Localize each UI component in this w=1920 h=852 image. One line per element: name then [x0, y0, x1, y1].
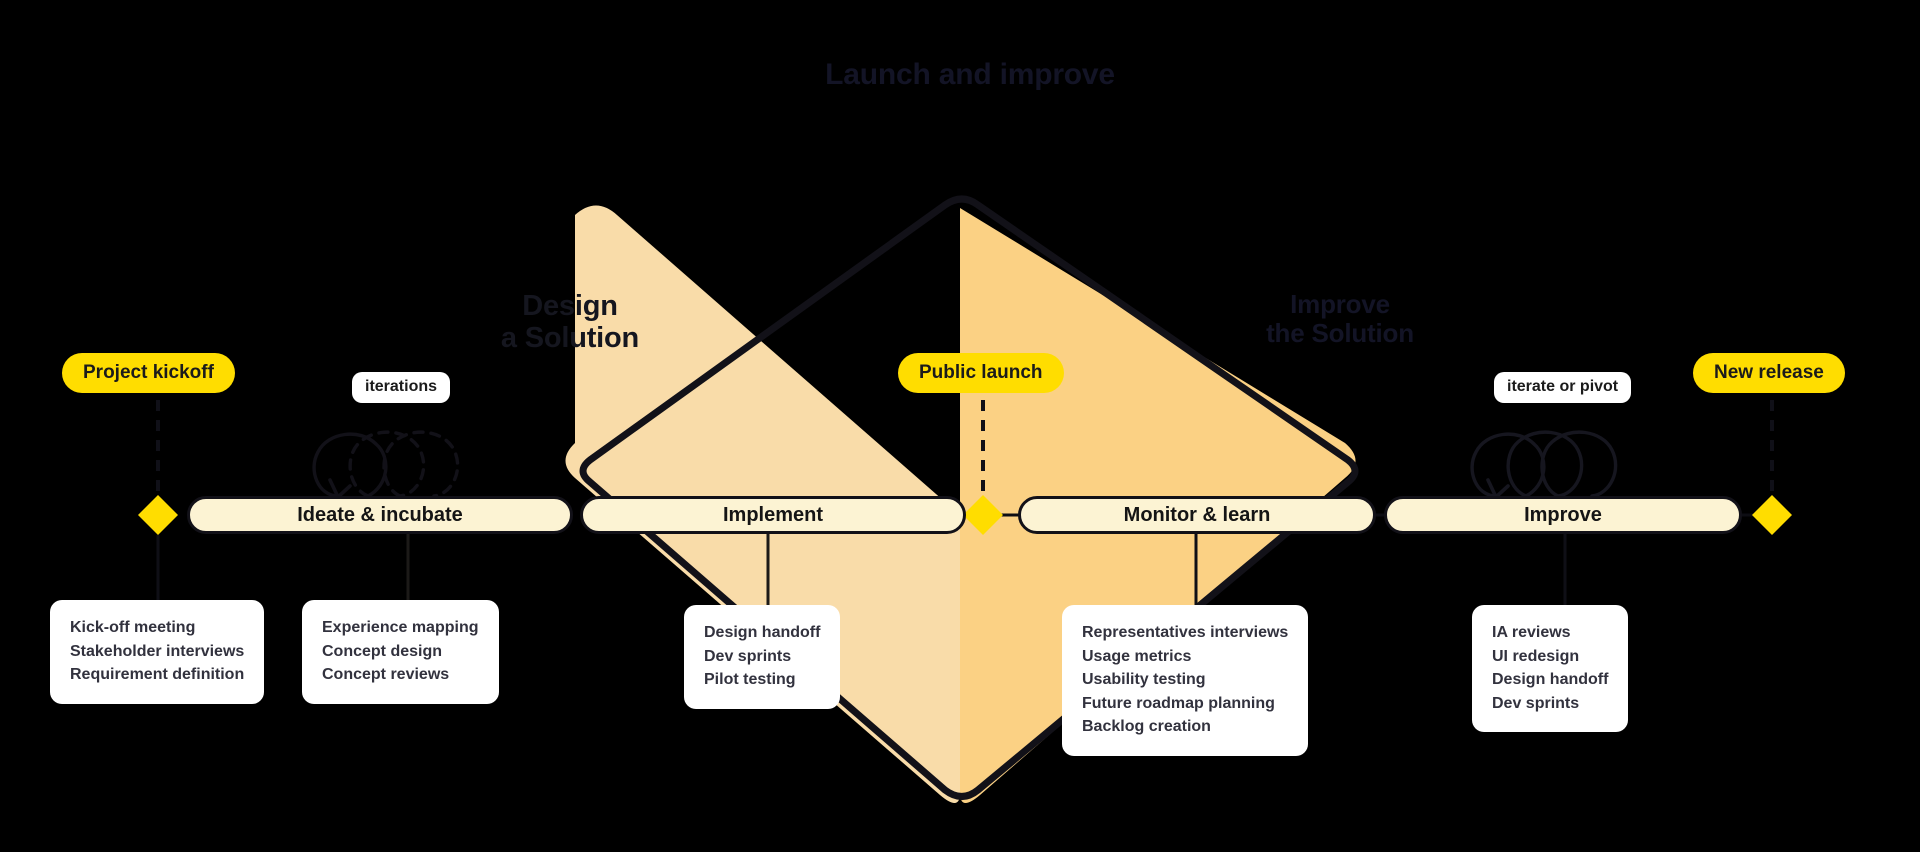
- iteration-spiral-left: [314, 432, 458, 497]
- detail-card-line: Concept reviews: [322, 663, 479, 687]
- detail-card-line: Dev sprints: [1492, 692, 1608, 716]
- node-diamond-public-launch: [963, 495, 1003, 535]
- detail-card-kickoff: Kick-off meetingStakeholder interviewsRe…: [50, 600, 264, 704]
- detail-card-monitor: Representatives interviewsUsage metricsU…: [1062, 605, 1308, 756]
- node-diamond-project-kickoff: [138, 495, 178, 535]
- detail-card-line: Representatives interviews: [1082, 621, 1288, 645]
- diagram-vector-layer: [0, 0, 1920, 852]
- detail-card-line: Usability testing: [1082, 668, 1288, 692]
- stage-pill-improve[interactable]: Improve: [1384, 496, 1742, 534]
- detail-card-line: Experience mapping: [322, 616, 479, 640]
- detail-card-line: IA reviews: [1492, 621, 1608, 645]
- detail-card-experience: Experience mappingConcept designConcept …: [302, 600, 499, 704]
- milestone-badge-new-release[interactable]: New release: [1693, 353, 1845, 393]
- detail-card-line: Kick-off meeting: [70, 616, 244, 640]
- heading-design-a-solution: Design a Solution: [420, 290, 720, 355]
- detail-card-line: Stakeholder interviews: [70, 640, 244, 664]
- loop-label-iterations: iterations: [352, 372, 450, 403]
- detail-card-line: Concept design: [322, 640, 479, 664]
- heading-improve-the-solution: Improve the Solution: [1170, 290, 1510, 348]
- detail-card-line: Design handoff: [704, 621, 820, 645]
- detail-card-design-handoff: Design handoffDev sprintsPilot testing: [684, 605, 840, 709]
- detail-card-line: Backlog creation: [1082, 715, 1288, 739]
- stage-pill-monitor-learn[interactable]: Monitor & learn: [1018, 496, 1376, 534]
- detail-card-improve: IA reviewsUI redesignDesign handoffDev s…: [1472, 605, 1628, 732]
- loop-label-iterate-or-pivot: iterate or pivot: [1494, 372, 1631, 403]
- detail-card-line: Usage metrics: [1082, 645, 1288, 669]
- detail-card-line: Pilot testing: [704, 668, 820, 692]
- node-diamond-new-release: [1752, 495, 1792, 535]
- page-title: Launch and improve: [660, 58, 1280, 92]
- detail-card-line: Design handoff: [1492, 668, 1608, 692]
- milestone-badge-project-kickoff[interactable]: Project kickoff: [62, 353, 235, 393]
- milestone-badge-public-launch[interactable]: Public launch: [898, 353, 1064, 393]
- detail-card-line: Dev sprints: [704, 645, 820, 669]
- stage-pill-ideate-incubate[interactable]: Ideate & incubate: [187, 496, 573, 534]
- iteration-spiral-right: [1472, 432, 1616, 497]
- detail-card-line: UI redesign: [1492, 645, 1608, 669]
- stage-pill-implement[interactable]: Implement: [580, 496, 966, 534]
- detail-card-line: Future roadmap planning: [1082, 692, 1288, 716]
- detail-card-line: Requirement definition: [70, 663, 244, 687]
- diagram-canvas: Launch and improve Design a Solution Imp…: [0, 0, 1920, 852]
